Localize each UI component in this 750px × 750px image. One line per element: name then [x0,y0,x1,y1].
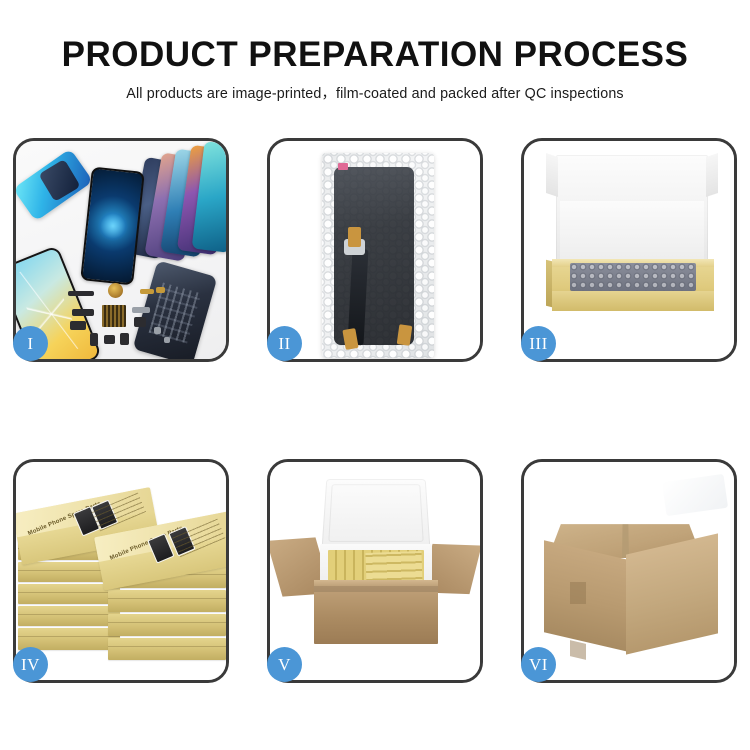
plastic-wrap-graphic [662,474,728,516]
process-step-panel-3: III [521,138,737,362]
step-1-image [16,141,226,359]
step-5-image [270,462,480,680]
header: PRODUCT PREPARATION PROCESS All products… [0,0,750,103]
gray-bubble-wrap-graphic [570,263,696,291]
carton-body-graphic [314,586,438,644]
carton-tape-graphic [570,582,586,604]
carton-right-face-graphic [626,533,718,654]
foam-lid-graphic [321,479,430,550]
front-phone-graphic [80,167,145,286]
step-badge-3: III [521,326,556,361]
process-step-panel-4: Mobile Phone Spare Parts Mobile Phone Sp… [13,459,229,683]
lcd-screen-graphic [334,167,414,345]
step-6-image [524,462,734,680]
bubble-wrap-graphic [322,153,434,358]
step-badge-1: I [13,326,48,361]
process-step-grid: I II [13,138,737,683]
step-badge-2: II [267,326,302,361]
process-step-panel-6: VI [521,459,737,683]
carton-tape-graphic [570,640,586,660]
step-badge-6: VI [521,647,556,682]
step-3-image [524,141,734,359]
process-step-panel-2: II [267,138,483,362]
gold-tab-graphic [348,227,361,247]
tray-front-graphic [552,291,714,311]
box-stack-graphic: Mobile Phone Spare Parts Mobile Phone Sp… [16,462,226,680]
foam-sheet-graphic [560,201,704,263]
process-step-panel-1: I [13,138,229,362]
page-title: PRODUCT PREPARATION PROCESS [0,0,750,74]
process-step-panel-5: V [267,459,483,683]
spare-parts-cluster [68,283,178,353]
pink-label-graphic [338,163,348,170]
step-badge-5: V [267,647,302,682]
gold-tab-graphic [397,324,413,346]
step-badge-4: IV [13,647,48,682]
step-2-image [270,141,480,359]
carton-left-face-graphic [544,540,628,651]
product-preparation-infographic: PRODUCT PREPARATION PROCESS All products… [0,0,750,750]
step-4-image: Mobile Phone Spare Parts Mobile Phone Sp… [16,462,226,680]
page-subtitle: All products are image-printed，film-coat… [0,74,750,103]
blue-phone-screen-graphic [16,149,93,222]
